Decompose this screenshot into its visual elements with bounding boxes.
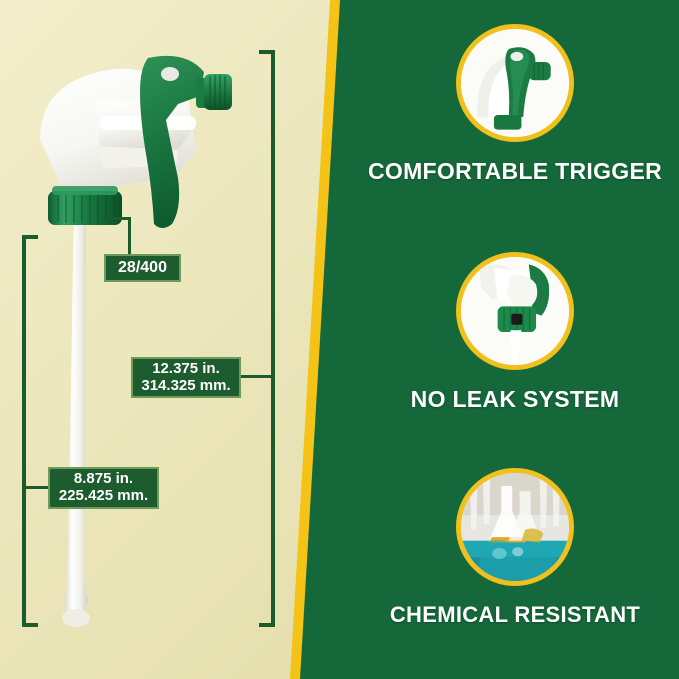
dip-tube-tick-top	[22, 235, 38, 239]
feature-chemical-resistant: CHEMICAL RESISTANT	[360, 468, 670, 628]
trigger-pivot-pin	[161, 67, 179, 81]
overall-length-tick-top	[259, 50, 275, 54]
feature-comfortable-trigger: COMFORTABLE TRIGGER	[360, 24, 670, 185]
feature-no-leak-system: NO LEAK SYSTEM	[360, 252, 670, 413]
dip-tube	[64, 205, 88, 621]
overall-length-tick-bottom	[259, 623, 275, 627]
feature-2-thumbnail	[456, 252, 574, 370]
feature-3-label: CHEMICAL RESISTANT	[360, 602, 670, 628]
dip-tube-tick-bottom	[22, 623, 38, 627]
dip-tube-foot	[62, 609, 90, 627]
callout-overall-length-mm: 314.325 mm.	[141, 378, 230, 395]
left-panel-product-diagram: 28/400 12.375 in. 314.325 mm. 8.875 in. …	[0, 0, 345, 679]
callout-overall-length: 12.375 in. 314.325 mm.	[131, 357, 241, 398]
feature-1-thumbnail	[456, 24, 574, 142]
closure-cap-top-lip	[52, 186, 118, 195]
callout-neck-finish: 28/400	[104, 254, 181, 282]
cap-closeup-icon	[461, 257, 569, 365]
neck-finish-leader-vertical	[128, 217, 131, 257]
feature-1-label: COMFORTABLE TRIGGER	[360, 158, 670, 185]
nozzle-head	[204, 74, 232, 110]
laboratory-glassware-icon	[461, 473, 569, 581]
trigger-closeup-icon	[461, 29, 569, 137]
trigger-sprayer-illustration	[0, 0, 345, 679]
callout-overall-length-inches: 12.375 in.	[152, 361, 220, 378]
neck-finish-leader-horizontal	[104, 217, 131, 220]
callout-dip-tube-inches: 8.875 in.	[74, 471, 133, 488]
callout-dip-tube-length: 8.875 in. 225.425 mm.	[48, 467, 159, 509]
product-infographic: 28/400 12.375 in. 314.325 mm. 8.875 in. …	[0, 0, 679, 679]
overall-length-dimension-line	[271, 50, 275, 627]
dip-tube-dimension-line	[22, 235, 26, 627]
callout-dip-tube-mm: 225.425 mm.	[59, 488, 148, 505]
feature-2-label: NO LEAK SYSTEM	[360, 386, 670, 413]
callout-neck-finish-label: 28/400	[118, 259, 167, 277]
overall-length-leader-line	[238, 375, 274, 378]
feature-3-thumbnail	[456, 468, 574, 586]
